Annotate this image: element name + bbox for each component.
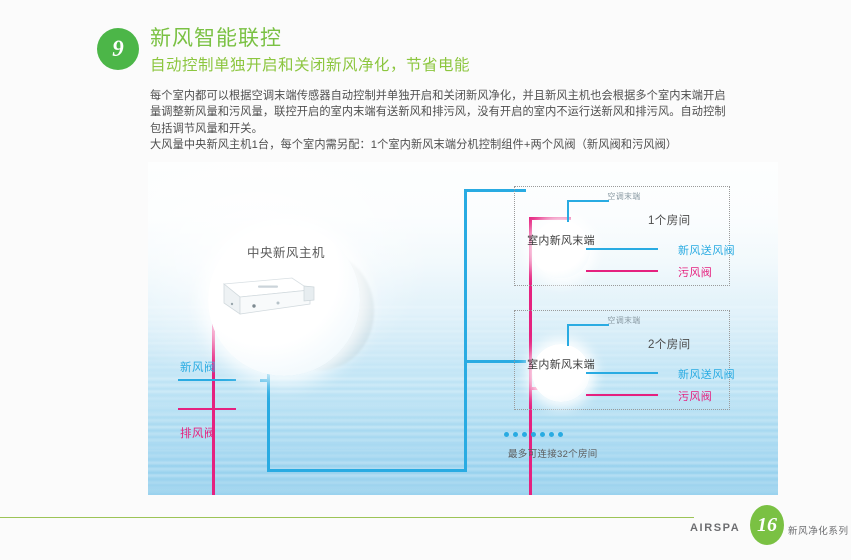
system-diagram: 新风阀 排风阀 中央新风主机 [148,162,778,495]
left-valve-label-exhaust: 排风阀 [180,425,216,441]
paragraph-line-1: 每个室内都可以根据空调末端传感器自动控制并单独开启和关闭新风净化，并且新风主机也… [150,88,768,104]
continuation-dot [522,432,527,437]
continuation-dot [531,432,536,437]
room2-ac-connector-horizontal [567,324,609,326]
room2-terminal-bubble [532,344,590,402]
page-number-badge: 16 [750,505,784,545]
pipe-left-fresh-corner-h [260,379,270,382]
page-subtitle: 自动控制单独开启和关闭新风净化，节省电能 [150,54,777,78]
pipe-supply-riser [464,189,467,472]
paragraph-line-3: 包括调节风量和开关。 [150,121,768,137]
paragraph-line-2: 量调整新风量和污风量，联控开启的室内末端有送新风和排污风，没有开启的室内不运行送… [150,104,768,120]
continuation-dot [504,432,509,437]
room1-ac-connector-horizontal [567,200,609,202]
pipe-exhaust-vertical-main [212,314,215,495]
section-number-badge: 9 [97,28,139,70]
page-root: 9 新风智能联控 自动控制单独开启和关闭新风净化，节省电能 每个室内都可以根据空… [0,0,851,560]
room1-ac-connector-vertical [567,200,569,222]
room1-terminal-text: 室内新风末端 [527,235,595,247]
central-fresh-air-unit-icon [206,270,316,318]
room2-ac-terminal-label: 空调末端 [607,316,641,326]
room2-ac-connector-vertical [567,324,569,346]
pipe-supply-horizontal-bottom [267,469,467,472]
room2-exhaust-pipe [586,394,658,396]
page-title: 新风智能联控 [150,26,777,52]
room2-terminal-text: 室内新风末端 [527,359,595,371]
room1-terminal-bubble [532,220,590,278]
continuation-dot [540,432,545,437]
header-text-group: 新风智能联控 自动控制单独开启和关闭新风净化，节省电能 [150,26,777,78]
footer-rule [0,517,694,518]
capacity-note: 最多可连接32个房间 [508,446,598,460]
room2-terminal-label: 室内新风末端 [525,358,597,372]
paragraph-line-4: 大风量中央新风主机1台，每个室内需另配：1个室内新风末端分机控制组件+两个风阀（… [150,137,768,153]
room2-title: 2个房间 [648,336,691,352]
room1-supply-valve-label: 新风送风阀 [678,242,735,258]
room1-terminal-label: 室内新风末端 [525,234,597,248]
main-unit-label: 中央新风主机 [226,242,346,261]
series-name: 新风净化系列 [788,523,849,537]
room1-ac-terminal-label: 空调末端 [607,192,641,202]
pipe-left-exhaust [178,408,236,410]
room1-supply-pipe [586,248,658,250]
continuation-dot [549,432,554,437]
room2-supply-pipe [586,372,658,374]
pipe-left-fresh [178,379,236,381]
continuation-dots [504,432,563,437]
left-valve-label-fresh: 新风阀 [180,359,216,375]
continuation-dot [513,432,518,437]
body-paragraphs: 每个室内都可以根据空调末端传感器自动控制并单独开启和关闭新风净化，并且新风主机也… [150,88,768,153]
brand-name: AIRSPA [690,522,740,534]
section-header: 9 新风智能联控 自动控制单独开启和关闭新风净化，节省电能 [97,26,777,78]
continuation-dot [558,432,563,437]
room1-exhaust-valve-label: 污风阀 [678,264,712,280]
room2-exhaust-valve-label: 污风阀 [678,388,712,404]
room1-exhaust-pipe [586,270,658,272]
room1-title: 1个房间 [648,212,691,228]
room2-supply-valve-label: 新风送风阀 [678,366,735,382]
